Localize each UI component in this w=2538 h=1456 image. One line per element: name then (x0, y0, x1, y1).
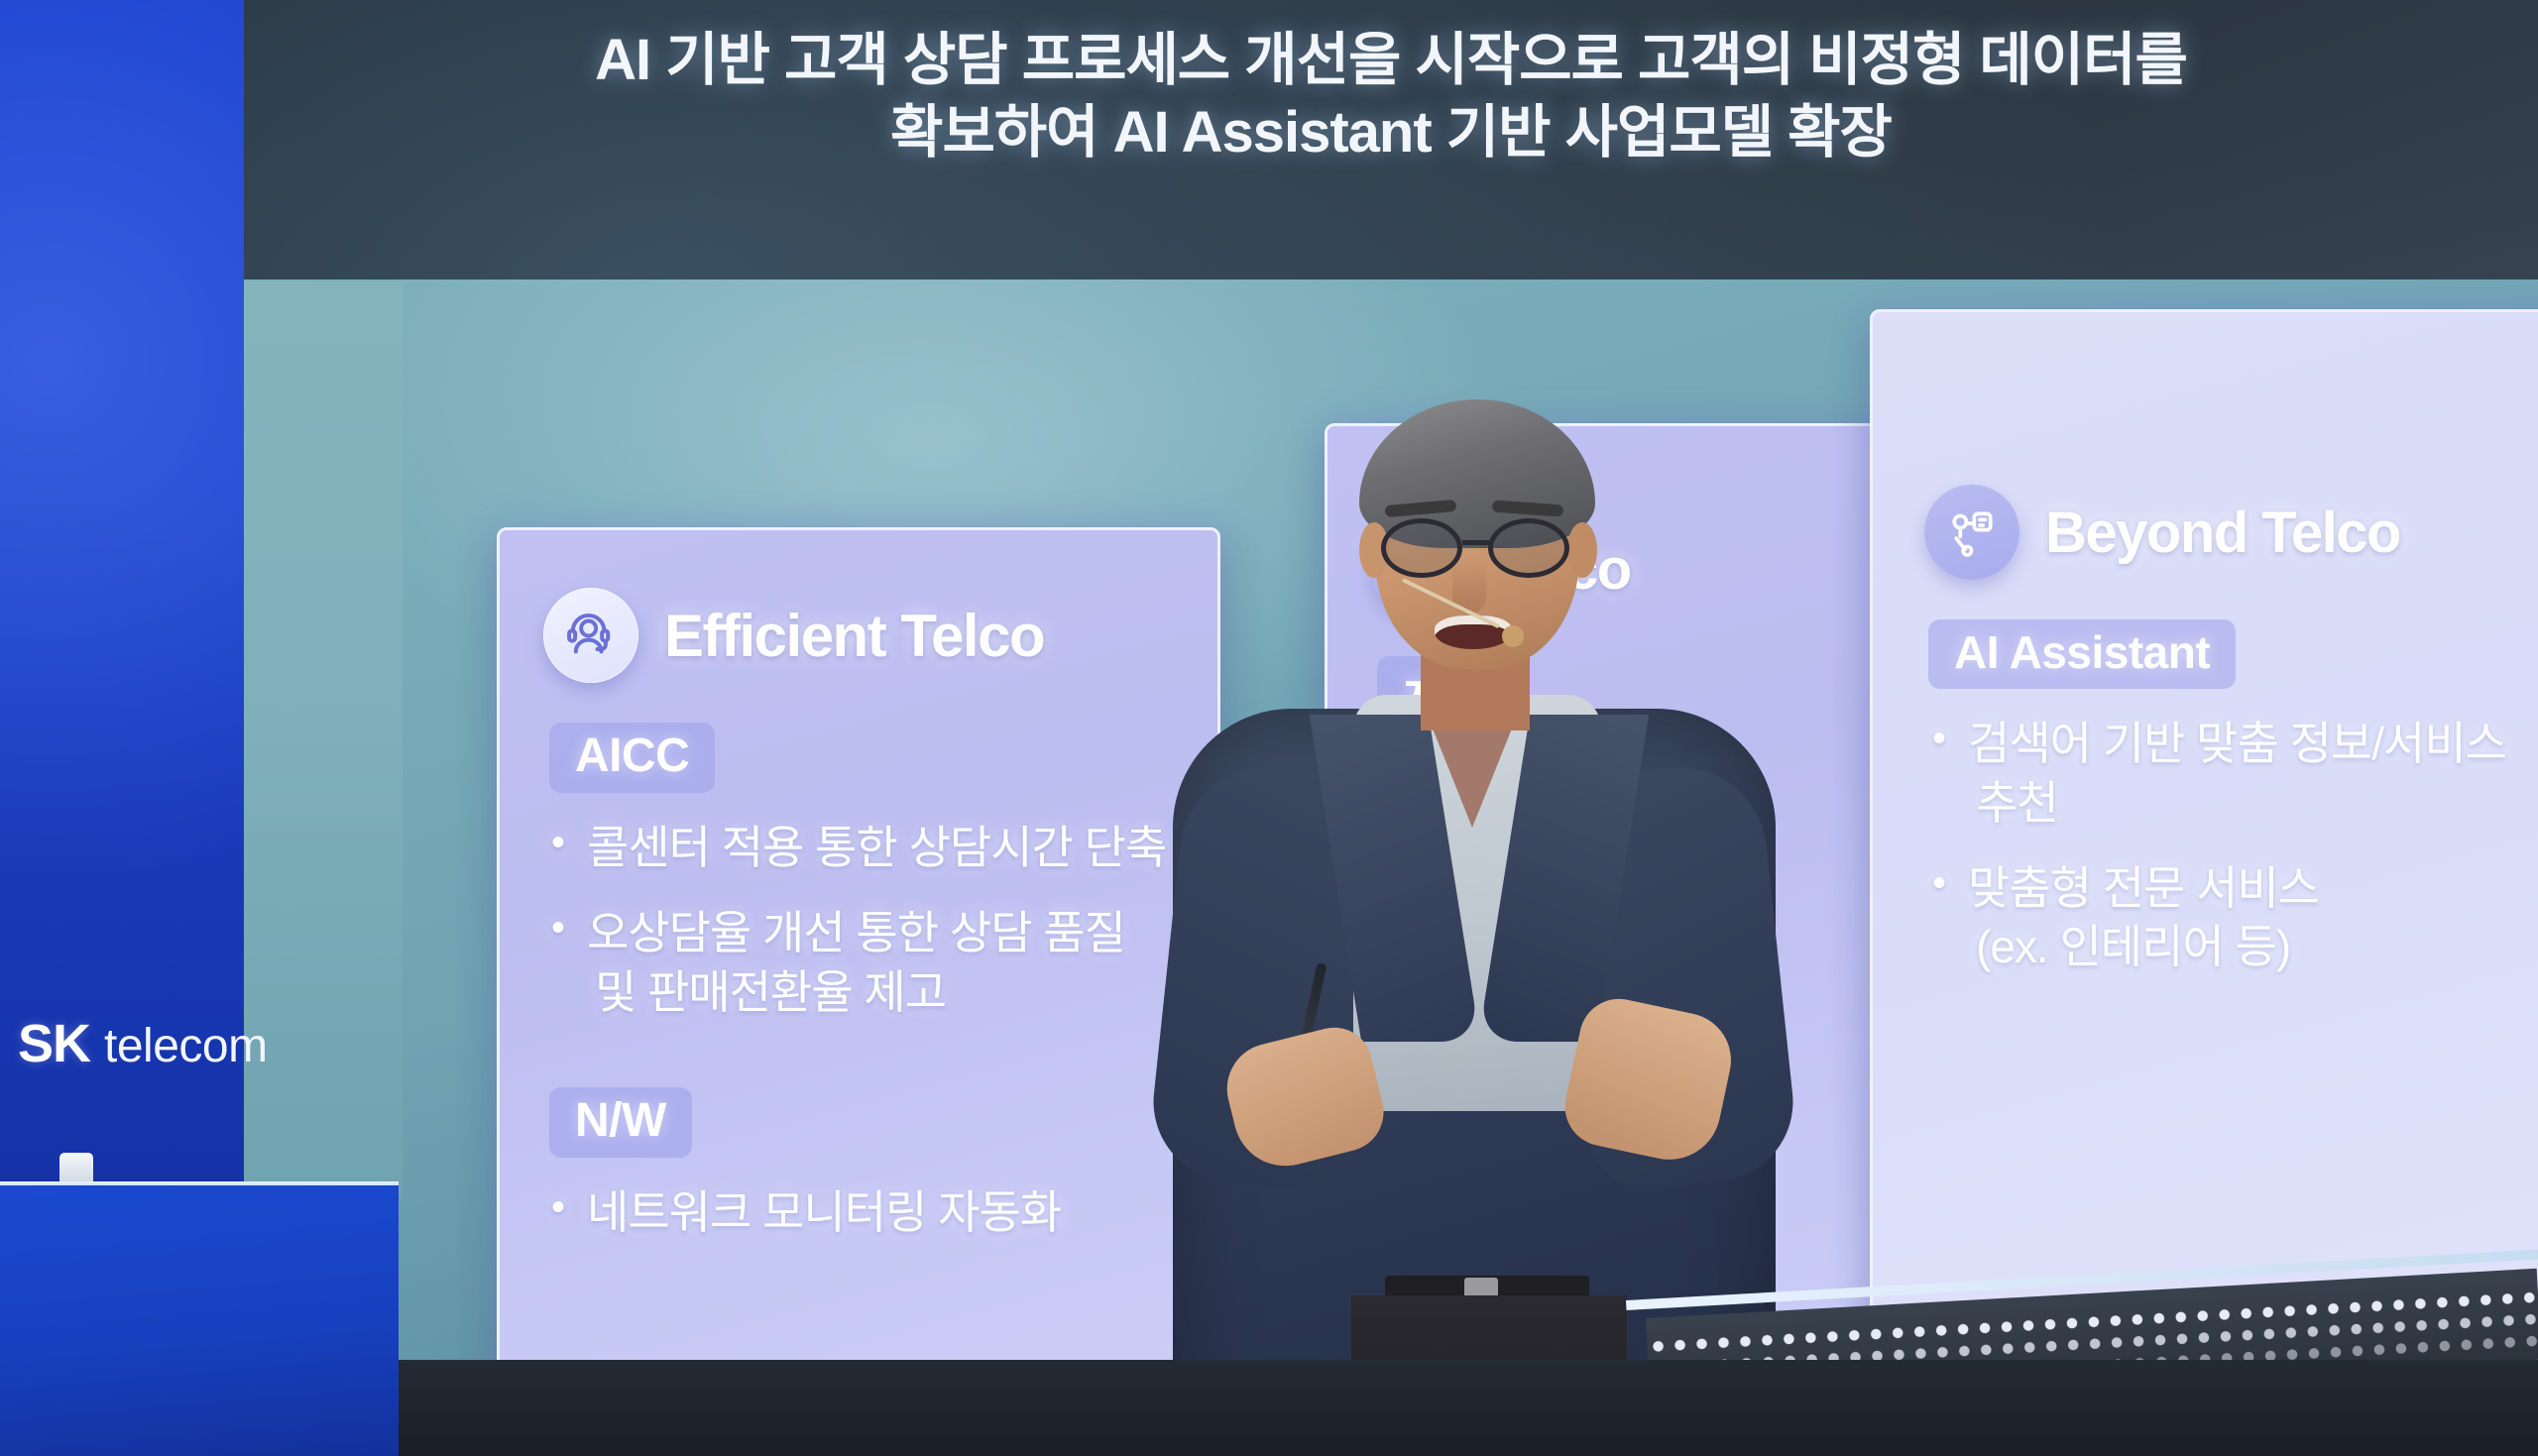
bullet-list-ai-assistant: 검색어 기반 맞춤 정보/서비스 추천 맞춤형 전문 서비스 (ex. 인테리어… (1924, 715, 2538, 977)
network-nodes-icon (1924, 485, 2019, 580)
bullet-text-continued: 추천 (1968, 774, 2538, 834)
bullet-text-continued: 및 판매전환율 제고 (587, 963, 1192, 1023)
list-item: 맞춤형 전문 서비스 (ex. 인테리어 등) (1924, 859, 2538, 978)
section-badge-nw: N/W (549, 1087, 692, 1158)
bullet-text: 맞춤형 전문 서비스 (1968, 862, 2319, 914)
section-badge-aicc: AICC (549, 723, 715, 793)
logo-sk-text: SK (18, 1013, 90, 1074)
bullet-text: 네트워크 모니터링 자동화 (587, 1186, 1061, 1238)
sk-telecom-logo: SK telecom (18, 1013, 268, 1074)
headset-mic-capsule (1502, 625, 1524, 647)
slide-title: AI 기반 고객 상담 프로세스 개선을 시작으로 고객의 비정형 데이터를 확… (244, 24, 2538, 168)
presentation-stage-photo: AI 기반 고객 상담 프로세스 개선을 시작으로 고객의 비정형 데이터를 확… (0, 0, 2538, 1456)
card-title: Efficient Telco (664, 602, 1044, 670)
bullet-text: 콜센터 적용 통한 상담시간 단축 (587, 822, 1166, 873)
list-item: 검색어 기반 맞춤 정보/서비스 추천 (1924, 715, 2538, 834)
card-header: Beyond Telco (1873, 312, 2538, 580)
lens-right (1488, 518, 1569, 578)
bullet-text: 오상담율 개선 통한 상담 품질 (587, 907, 1125, 958)
list-item: 네트워크 모니터링 자동화 (543, 1183, 1192, 1243)
bullet-text-continued: (ex. 인테리어 등) (1968, 918, 2538, 977)
mouth (1435, 616, 1512, 649)
podium (0, 1185, 399, 1456)
slide-title-line-1: AI 기반 고객 상담 프로세스 개선을 시작으로 고객의 비정형 데이터를 (244, 24, 2538, 96)
stage-floor (244, 1360, 2538, 1456)
bullet-text: 검색어 기반 맞춤 정보/서비스 (1968, 718, 2506, 769)
teal-wall-panel (244, 282, 403, 1199)
card-efficient-telco[interactable]: Efficient Telco AICC 콜센터 적용 통한 상담시간 단축 오… (497, 527, 1220, 1360)
card-beyond-telco[interactable]: Beyond Telco AI Assistant 검색어 기반 맞춤 정보/서… (1870, 309, 2538, 1360)
section-badge-ai-assistant: AI Assistant (1928, 619, 2236, 689)
lens-left (1381, 518, 1462, 578)
card-title: Beyond Telco (2045, 500, 2400, 566)
logo-telecom-text: telecom (104, 1019, 268, 1073)
bullet-list-nw: 네트워크 모니터링 자동화 (543, 1183, 1217, 1243)
card-header: Efficient Telco (500, 530, 1217, 683)
headset-consultation-icon (543, 588, 638, 683)
list-item: 콜센터 적용 통한 상담시간 단축 (543, 819, 1192, 878)
slide-title-line-2: 확보하여 AI Assistant 기반 사업모델 확장 (244, 96, 2538, 168)
bullet-list-aicc: 콜센터 적용 통한 상담시간 단축 오상담율 개선 통한 상담 품질 및 판매전… (543, 819, 1217, 1022)
list-item: 오상담율 개선 통한 상담 품질 및 판매전환율 제고 (543, 904, 1192, 1023)
